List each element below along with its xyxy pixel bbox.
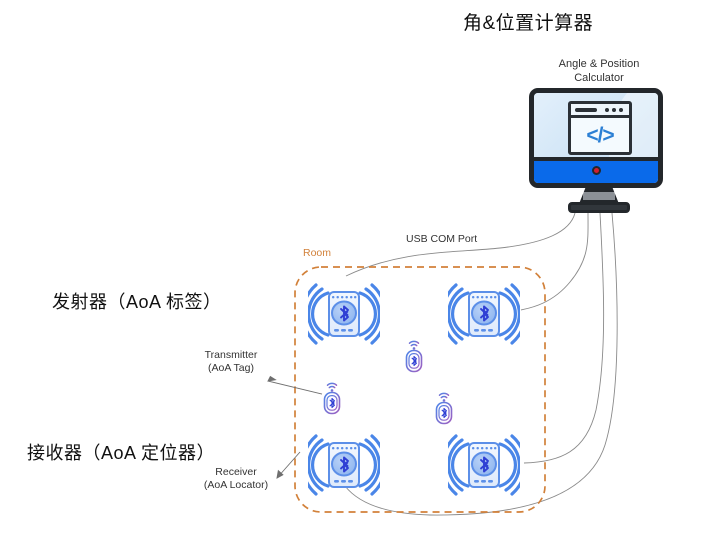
aoa-tag-center[interactable] xyxy=(407,341,422,371)
receiver-label-cn: 接收器（AoA 定位器） xyxy=(27,439,215,465)
receiver-label-en: Receiver (AoA Locator) xyxy=(186,466,286,492)
monitor-body: </> xyxy=(529,88,663,188)
usb-cable-top-right xyxy=(521,213,588,310)
receiver-label-en-line1: Receiver xyxy=(186,466,286,479)
power-led-icon xyxy=(592,166,601,175)
transmitter-label-en: Transmitter (AoA Tag) xyxy=(185,349,277,375)
aoa-locator-bottom-right[interactable] xyxy=(443,436,526,494)
computer-label: Angle & Position Calculator xyxy=(529,57,669,85)
monitor-bottom-bar xyxy=(534,157,658,183)
usb-cable-bottom-right xyxy=(524,213,604,463)
aoa-tag-left[interactable] xyxy=(325,383,340,413)
transmitter-label-cn: 发射器（AoA 标签） xyxy=(52,288,222,314)
code-window-icon: </> xyxy=(568,101,632,155)
usb-com-port-label: USB COM Port xyxy=(404,233,479,245)
transmitter-label-en-line1: Transmitter xyxy=(185,349,277,362)
aoa-locator-top-right[interactable] xyxy=(443,285,526,343)
room-label: Room xyxy=(303,247,331,259)
titlebar-pill xyxy=(575,108,597,112)
page-title-cn: 角&位置计算器 xyxy=(463,8,593,35)
computer-label-line1: Angle & Position xyxy=(529,57,669,71)
monitor-stand-base xyxy=(568,202,630,213)
aoa-locator-bottom-left[interactable] xyxy=(303,436,386,494)
aoa-tag-right[interactable] xyxy=(437,393,452,423)
code-glyph: </> xyxy=(571,119,629,152)
code-window-titlebar xyxy=(571,104,629,118)
receiver-label-en-line2: (AoA Locator) xyxy=(186,479,286,492)
monitor-screen: </> xyxy=(534,93,658,161)
angle-position-calculator-computer[interactable]: </> xyxy=(529,88,669,213)
aoa-locator-top-left[interactable] xyxy=(303,285,386,343)
titlebar-dots xyxy=(605,108,625,112)
transmitter-label-en-line2: (AoA Tag) xyxy=(185,362,277,375)
computer-label-line2: Calculator xyxy=(529,71,669,85)
